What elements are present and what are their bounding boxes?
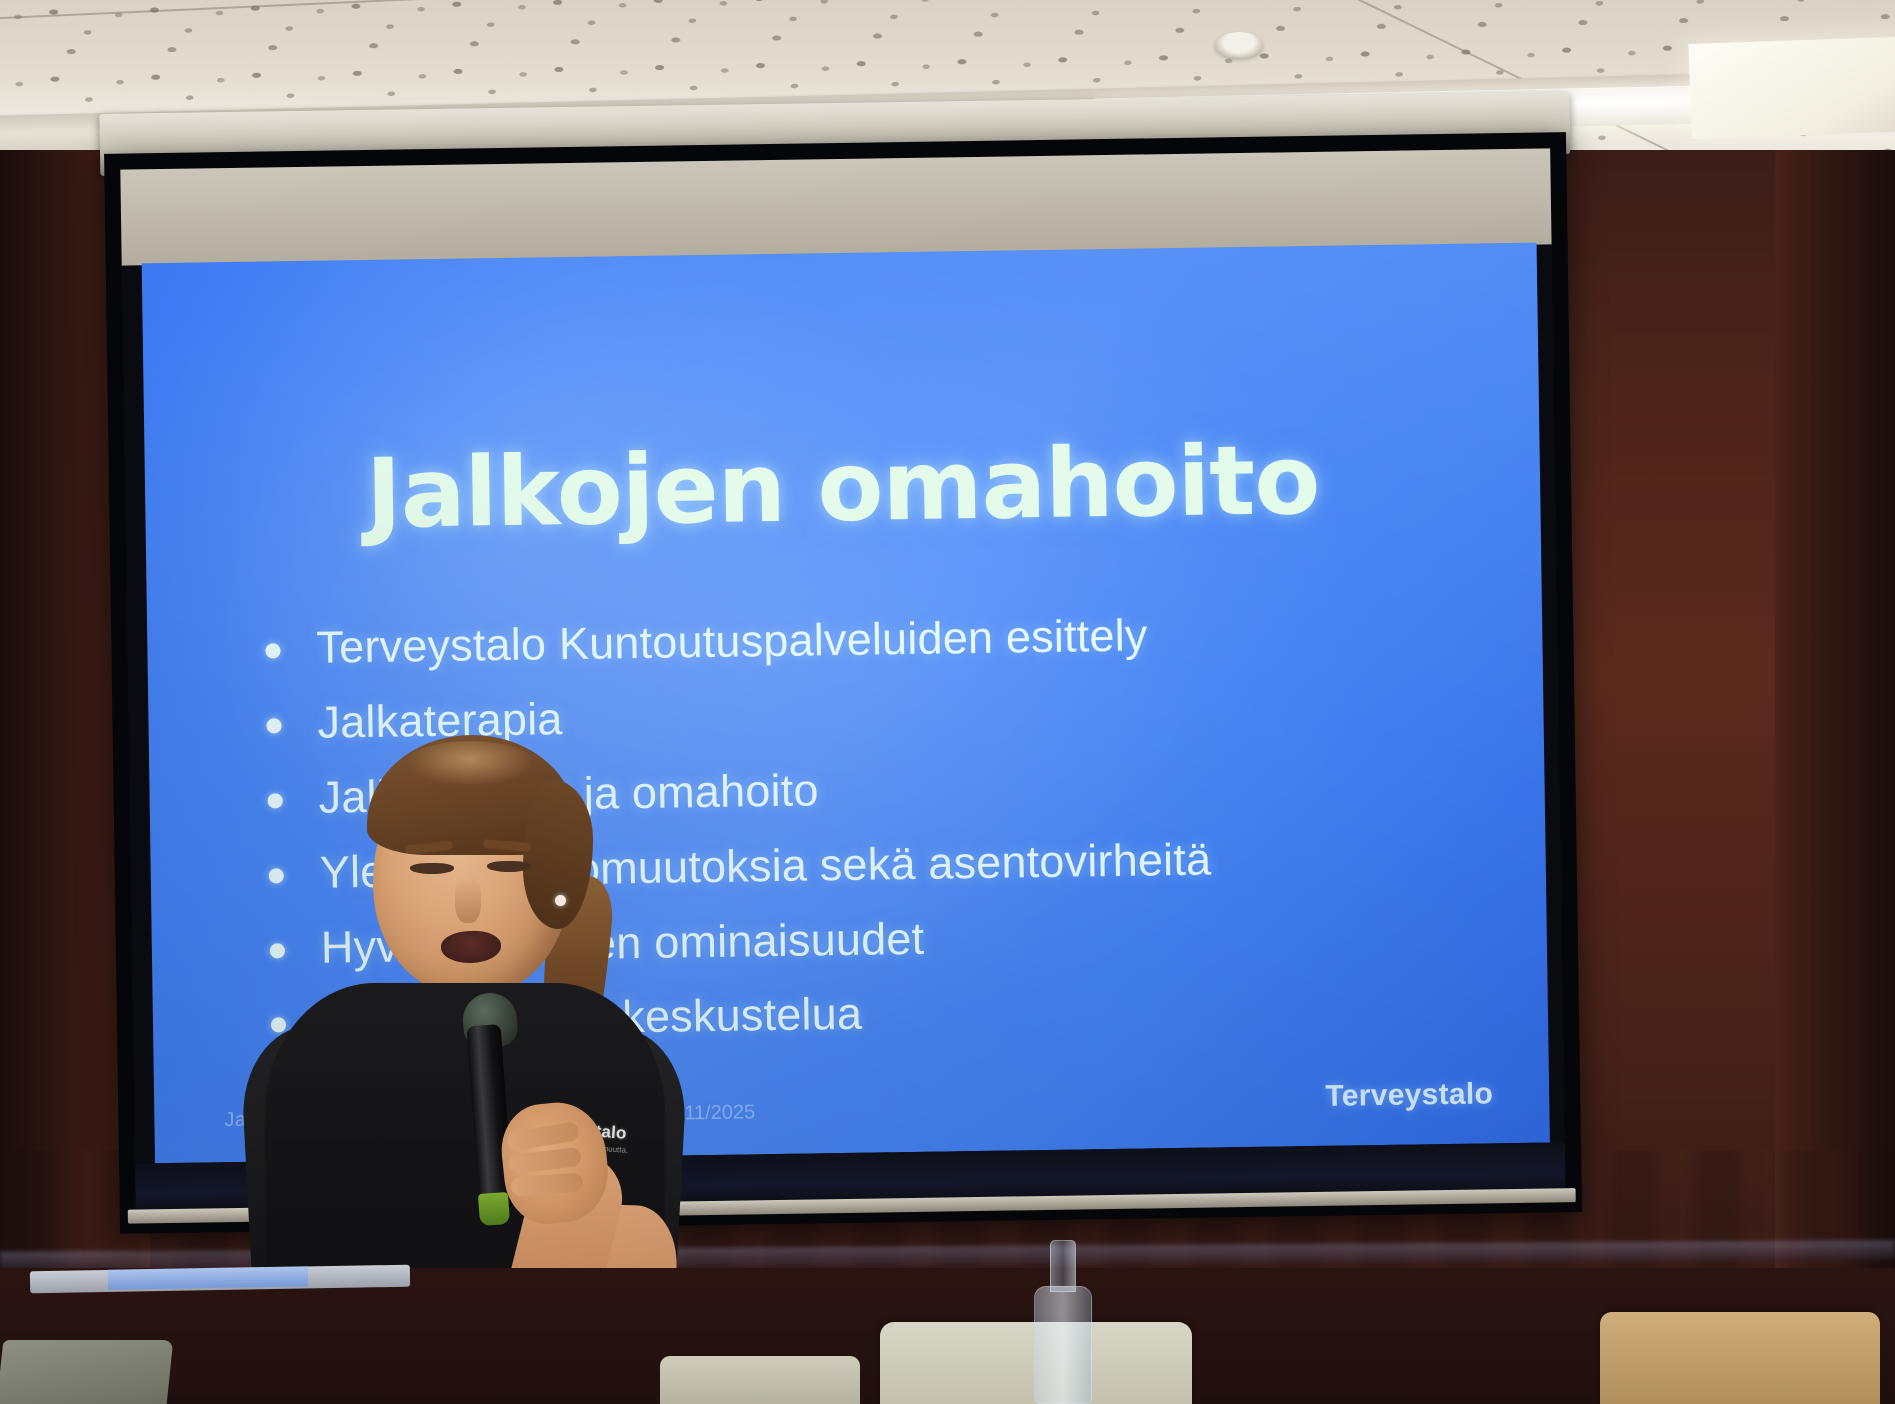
slide-footer-date: 11/2025 bbox=[684, 1101, 755, 1125]
chair-back bbox=[660, 1356, 860, 1404]
slide-title: Jalkojen omahoito bbox=[144, 421, 1541, 554]
smoke-detector-icon bbox=[1215, 32, 1263, 58]
list-item: Terveystalo Kuntoutuspalveluiden esittel… bbox=[265, 603, 1496, 676]
microphone-tip bbox=[478, 1192, 510, 1226]
desk-monitor-glow bbox=[108, 1266, 308, 1289]
laptop-device bbox=[0, 1340, 173, 1404]
bottle-body bbox=[1034, 1286, 1092, 1404]
chair-back bbox=[1600, 1312, 1880, 1404]
bullet-dot-icon bbox=[265, 643, 280, 658]
presenter-eye-left bbox=[410, 863, 454, 874]
presentation-photo-scene: Jalkojen omahoito Terveystalo Kuntoutusp… bbox=[0, 0, 1895, 1404]
terveystalo-logo: Terveystalo bbox=[1325, 1077, 1493, 1113]
bullet-label: Terveystalo Kuntoutuspalveluiden esittel… bbox=[316, 608, 1148, 675]
bottle-neck bbox=[1050, 1240, 1076, 1292]
bullet-dot-icon bbox=[266, 718, 281, 733]
ceiling-light-panel bbox=[1688, 36, 1895, 139]
presenter-nose bbox=[455, 877, 481, 923]
water-bottle-icon bbox=[1032, 1240, 1094, 1404]
presenter-eye-right bbox=[487, 861, 531, 872]
presenter-hair-highlight bbox=[405, 741, 535, 787]
presenter-earring bbox=[555, 895, 566, 906]
